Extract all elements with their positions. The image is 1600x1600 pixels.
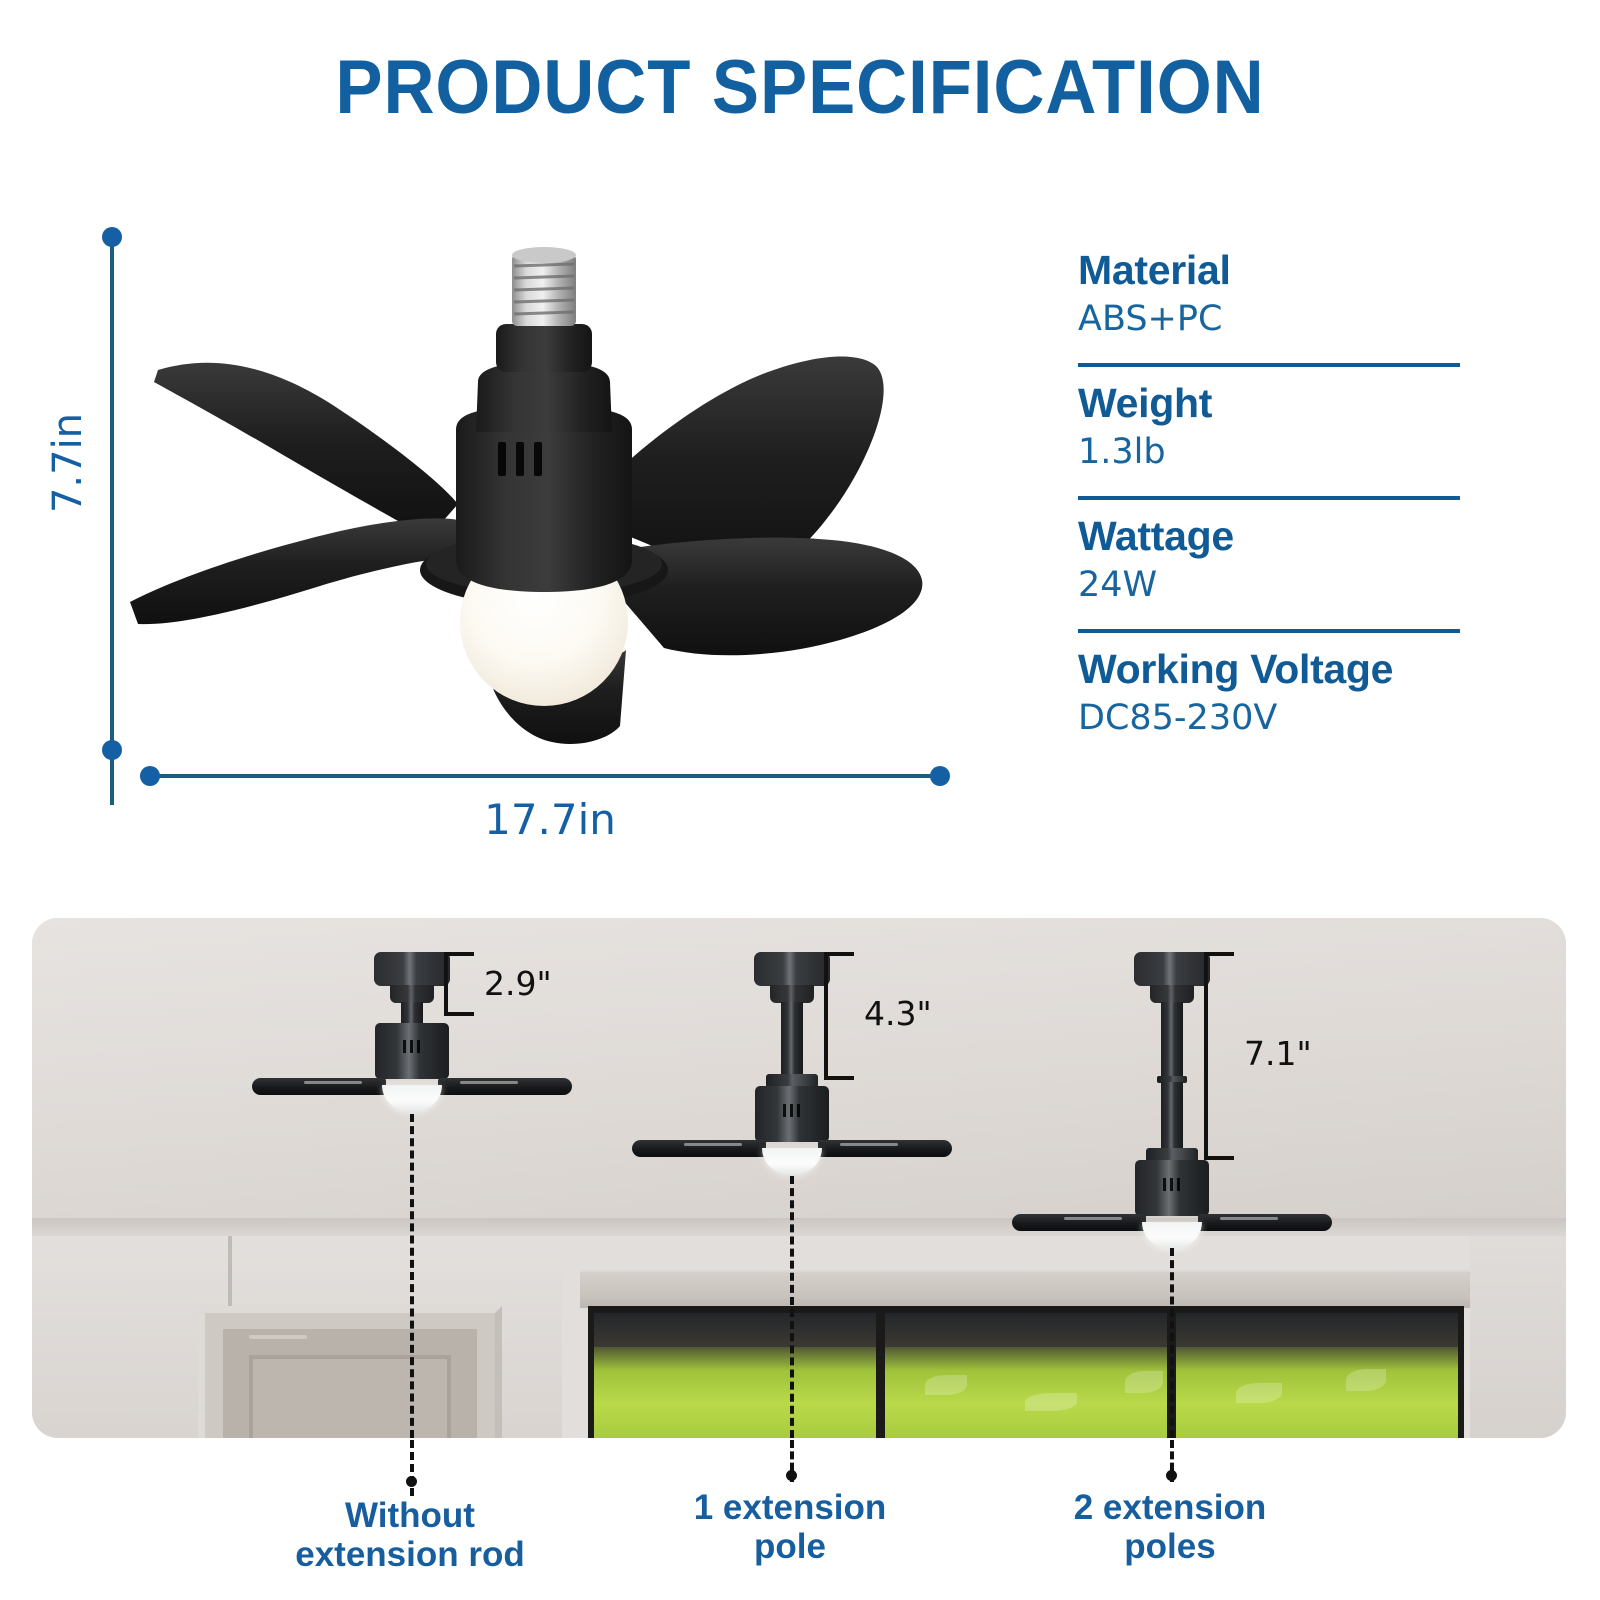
fan1-blade-right: [438, 1078, 572, 1095]
fan3-canopy-neck: [1150, 985, 1194, 1003]
measurement-label-3: 7.1": [1244, 1034, 1312, 1073]
foliage-1: [925, 1375, 967, 1395]
spec-row-material: Material ABS+PC: [1078, 248, 1478, 349]
fan-blade-lower-left: [130, 518, 462, 624]
fan3-blade-right-highlight: [1220, 1217, 1278, 1220]
fan1-blade-right-highlight: [460, 1081, 518, 1084]
foliage-5: [1346, 1369, 1386, 1391]
fan2-blade-right-highlight: [840, 1143, 898, 1146]
foliage-2: [1025, 1393, 1077, 1411]
installation-room-photo: 2.9" 4.3": [32, 918, 1566, 1438]
fan3-blade-right: [1198, 1214, 1332, 1231]
fan1-blade-left-highlight: [304, 1081, 362, 1084]
fan-motor-housing: [456, 406, 632, 592]
spec-divider-2: [1078, 496, 1460, 500]
room-door-frame: [198, 1306, 502, 1438]
fan2-ceiling-canopy: [754, 952, 830, 986]
spec-value-weight: 1.3lb: [1078, 427, 1478, 476]
fan2-vent-slots: [783, 1104, 801, 1117]
leader-dot-1: [406, 1476, 417, 1487]
fan-housing-shoulder: [476, 362, 612, 432]
fan2-extension-rod: [781, 1002, 803, 1080]
ceiling-fan-illustration: [120, 220, 950, 760]
leader-dot-3: [1166, 1470, 1177, 1481]
spec-value-working-voltage: DC85-230V: [1078, 693, 1478, 742]
leader-line-1-tail: [410, 1440, 414, 1496]
width-dimension-label: 17.7in: [400, 795, 700, 844]
fan-neck: [496, 324, 592, 372]
fan-screw-base-e26: [512, 247, 576, 326]
foliage-3: [1125, 1371, 1163, 1393]
fan1-vent-slots: [403, 1040, 421, 1053]
spec-divider-1: [1078, 363, 1460, 367]
leader-line-3: [1170, 1248, 1174, 1438]
foliage-4: [1236, 1383, 1282, 1403]
leader-line-1: [410, 1114, 414, 1438]
room-sliding-glass-door: [588, 1306, 1464, 1438]
caption-one-extension-pole: 1 extension pole: [590, 1488, 990, 1566]
glass-pane-header-2: [885, 1313, 1167, 1347]
fan-blade-lower-right: [616, 538, 922, 656]
height-dimension-label: 7.7in: [45, 413, 91, 513]
product-photo-ceiling-fan: [120, 220, 950, 760]
glass-pane-header-1: [594, 1313, 876, 1347]
fan2-blade-left-highlight: [684, 1143, 742, 1146]
fan3-extension-rod-2: [1161, 1082, 1183, 1152]
spec-value-material: ABS+PC: [1078, 294, 1478, 343]
width-dimension-endpoint-right: [930, 766, 950, 786]
fan1-blade-left: [252, 1078, 386, 1095]
measurement-bracket-3: [1204, 952, 1234, 1160]
measurement-label-1: 2.9": [484, 964, 552, 1003]
fan3-blade-left-highlight: [1064, 1217, 1122, 1220]
spec-label-working-voltage: Working Voltage: [1078, 647, 1478, 693]
spec-row-weight: Weight 1.3lb: [1078, 381, 1478, 482]
fan3-vent-slots: [1163, 1178, 1181, 1191]
measurement-bracket-2: [824, 952, 854, 1080]
fan1-short-rod: [401, 1002, 423, 1024]
spec-label-material: Material: [1078, 248, 1478, 294]
room-door-handle: [249, 1335, 307, 1339]
fan3-extension-rod-1: [1161, 1002, 1183, 1080]
room-door: [223, 1329, 477, 1438]
spec-label-weight: Weight: [1078, 381, 1478, 427]
room-window-valance: [580, 1270, 1470, 1308]
fan3-ceiling-canopy: [1134, 952, 1210, 986]
spec-row-working-voltage: Working Voltage DC85-230V: [1078, 647, 1478, 748]
width-dimension-endpoint-left: [140, 766, 160, 786]
leader-dot-2: [786, 1470, 797, 1481]
spec-divider-3: [1078, 629, 1460, 633]
spec-row-wattage: Wattage 24W: [1078, 514, 1478, 615]
fan2-canopy-neck: [770, 985, 814, 1003]
glass-pane-1: [594, 1313, 876, 1438]
height-dimension-endpoint-top: [102, 227, 122, 247]
fan2-blade-left: [632, 1140, 766, 1157]
caption-two-extension-poles: 2 extension poles: [970, 1488, 1370, 1566]
caption-without-extension-rod: Without extension rod: [210, 1496, 610, 1574]
leader-line-2: [790, 1176, 794, 1438]
width-dimension-line: [148, 774, 948, 778]
spec-label-wattage: Wattage: [1078, 514, 1478, 560]
height-dimension-line: [110, 235, 114, 805]
fan2-blade-right: [818, 1140, 952, 1157]
measurement-bracket-1: [444, 952, 474, 1016]
spec-value-wattage: 24W: [1078, 560, 1478, 609]
room-wall-far-right: [1470, 1236, 1566, 1438]
height-dimension-endpoint-bottom: [102, 740, 122, 760]
fan1-ceiling-canopy: [374, 952, 450, 986]
fan1-canopy-neck: [390, 985, 434, 1003]
fan-vent-slots: [498, 442, 542, 476]
glass-pane-header-3: [1176, 1313, 1458, 1347]
glass-pane-3: [1176, 1313, 1458, 1438]
glass-pane-2: [885, 1313, 1167, 1438]
specification-table: Material ABS+PC Weight 1.3lb Wattage 24W…: [1078, 248, 1478, 749]
fan-blade-upper-left: [154, 363, 458, 538]
page-title: PRODUCT SPECIFICATION: [56, 44, 1544, 131]
measurement-label-2: 4.3": [864, 994, 932, 1033]
room-door-panel: [249, 1355, 451, 1438]
fan3-blade-left: [1012, 1214, 1146, 1231]
